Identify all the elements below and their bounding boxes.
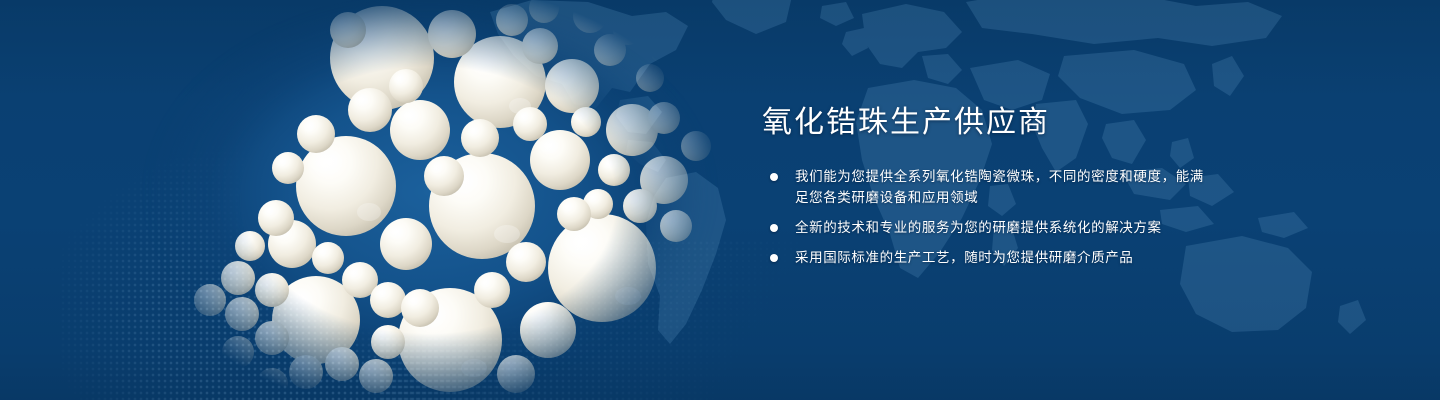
banner-text-column: 氧化锆珠生产供应商 我们能为您提供全系列氧化锆陶瓷微珠，不同的密度和硬度，能满足… [762,106,1282,278]
list-item-label: 全新的技术和专业的服务为您的研磨提供系统化的解决方案 [795,218,1162,239]
list-item-label: 我们能为您提供全系列氧化锆陶瓷微珠，不同的密度和硬度，能满足您各类研磨设备和应用… [795,167,1215,209]
bullet-dot-icon [770,254,778,262]
page-title: 氧化锆珠生产供应商 [762,106,1282,141]
product-hero-banner: 氧化锆珠生产供应商 我们能为您提供全系列氧化锆陶瓷微珠，不同的密度和硬度，能满足… [0,0,1440,400]
zirconia-beads-photo [120,0,740,400]
bullet-dot-icon [770,173,778,181]
bullet-dot-icon [770,224,778,232]
list-item: 我们能为您提供全系列氧化锆陶瓷微珠，不同的密度和硬度，能满足您各类研磨设备和应用… [762,167,1282,209]
list-item-label: 采用国际标准的生产工艺，随时为您提供研磨介质产品 [795,248,1133,269]
list-item: 采用国际标准的生产工艺，随时为您提供研磨介质产品 [762,248,1282,269]
beads-illustration [120,0,740,400]
feature-list: 我们能为您提供全系列氧化锆陶瓷微珠，不同的密度和硬度，能满足您各类研磨设备和应用… [762,167,1282,269]
list-item: 全新的技术和专业的服务为您的研磨提供系统化的解决方案 [762,218,1282,239]
